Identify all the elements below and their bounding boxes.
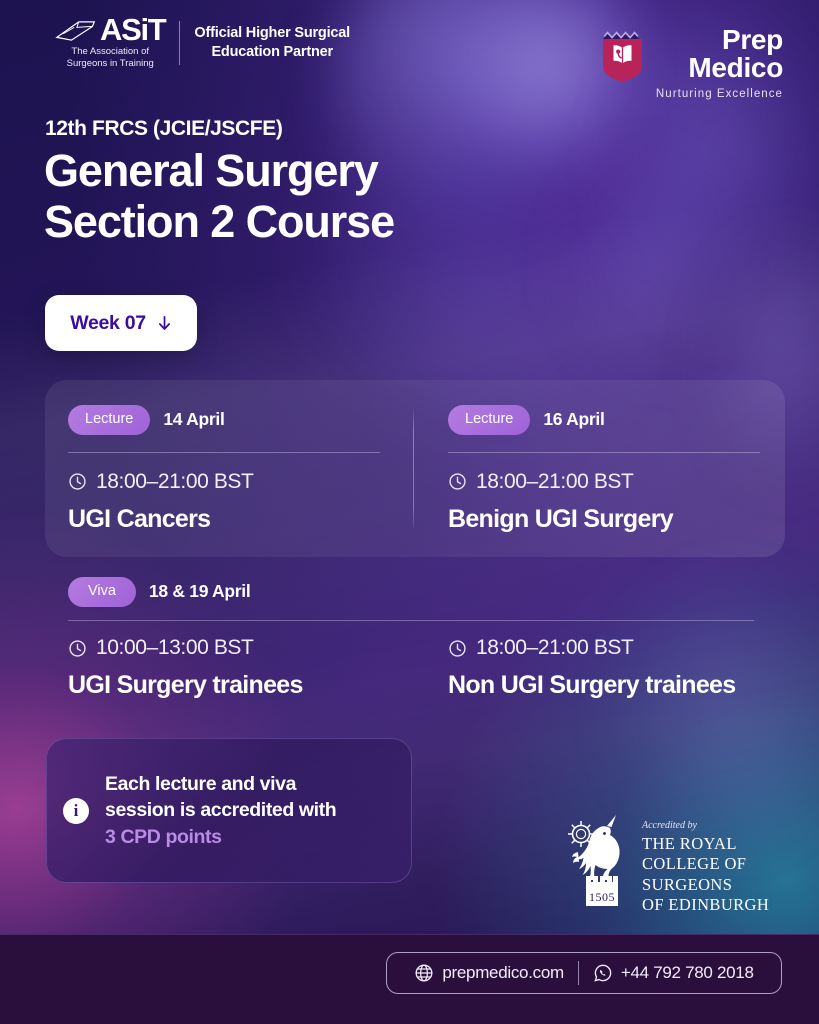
viva-type-badge: Viva (68, 577, 136, 607)
session-title: Non UGI Surgery trainees (448, 671, 778, 700)
week-selector-label: Week 07 (70, 312, 146, 335)
phone-text: +44 792 780 2018 (621, 963, 754, 983)
clock-icon (68, 472, 87, 491)
page-title-line2: Section 2 Course (44, 197, 394, 248)
asit-wordmark: ASiT (100, 16, 165, 43)
rcsed-line1: THE ROYAL (642, 834, 769, 854)
cpd-note-box: i Each lecture and viva session is accre… (46, 738, 412, 883)
cpd-note-text: Each lecture and viva session is accredi… (105, 771, 336, 850)
session-lecture-2[interactable]: Lecture 16 April 18:00–21:00 BST Benign … (448, 405, 760, 534)
session-divider (68, 452, 380, 453)
info-icon: i (63, 798, 89, 824)
footer-divider (179, 21, 180, 65)
poster-root: Prep Medico Nurturing Excellence 12th FR… (0, 0, 819, 1024)
book-shield-icon (601, 30, 644, 82)
session-title: UGI Cancers (68, 505, 380, 534)
website-link[interactable]: prepmedico.com (414, 963, 563, 983)
session-type-badge: Lecture (448, 405, 530, 435)
session-title: Benign UGI Surgery (448, 505, 760, 534)
partner-text: Official Higher Surgical Education Partn… (194, 24, 350, 63)
website-text: prepmedico.com (442, 963, 563, 983)
session-time: 18:00–21:00 BST (476, 636, 633, 660)
page-title: General Surgery Section 2 Course (44, 146, 394, 248)
session-type-badge: Lecture (68, 405, 150, 435)
accreditation-logo: 1505 Accredited by THE ROYAL COLLEGE OF … (566, 812, 769, 916)
clock-icon (448, 639, 467, 658)
week-selector-button[interactable]: Week 07 (45, 295, 197, 351)
brand-name-line2: Medico (688, 54, 783, 82)
session-time: 18:00–21:00 BST (96, 470, 253, 494)
asit-sub-line1: The Association of (67, 46, 154, 58)
accredited-by-label: Accredited by (642, 820, 769, 831)
phone-link[interactable]: +44 792 780 2018 (593, 963, 754, 983)
session-date: 16 April (543, 409, 604, 430)
session-lecture-1[interactable]: Lecture 14 April 18:00–21:00 BST UGI Can… (68, 405, 380, 534)
asit-sub-line2: Surgeons in Training (67, 58, 154, 70)
page-title-line1: General Surgery (44, 146, 394, 197)
unicorn-crest-icon: 1505 (566, 812, 632, 912)
clock-icon (68, 639, 87, 658)
rcsed-line4: OF EDINBURGH (642, 895, 769, 915)
brand-logo: Prep Medico Nurturing Excellence (601, 26, 783, 100)
course-kicker: 12th FRCS (JCIE/JSCFE) (45, 117, 282, 141)
session-viva-2[interactable]: 18:00–21:00 BST Non UGI Surgery trainees (448, 636, 778, 700)
globe-icon (414, 963, 434, 983)
lectures-vertical-divider (413, 410, 414, 528)
cpd-note-line1: Each lecture and viva (105, 771, 336, 797)
scalpel-icon (55, 19, 97, 43)
viva-divider (68, 620, 754, 621)
session-title: UGI Surgery trainees (68, 671, 398, 700)
brand-tagline: Nurturing Excellence (656, 88, 783, 100)
viva-header: Viva 18 & 19 April (68, 577, 250, 607)
rcsed-line2: COLLEGE OF (642, 854, 769, 874)
session-time: 10:00–13:00 BST (96, 636, 253, 660)
crest-year: 1505 (589, 890, 615, 904)
session-date: 14 April (163, 409, 224, 430)
cpd-note-line2: session is accredited with (105, 797, 336, 823)
contact-divider (578, 961, 579, 985)
cpd-points-highlight: 3 CPD points (105, 824, 336, 850)
session-divider (448, 452, 760, 453)
asit-partner-block: ASiT The Association of Surgeons in Trai… (55, 16, 350, 71)
partner-line2: Education Partner (194, 43, 350, 62)
clock-icon (448, 472, 467, 491)
viva-date: 18 & 19 April (149, 581, 250, 602)
session-time: 18:00–21:00 BST (476, 470, 633, 494)
brand-name-line1: Prep (722, 26, 783, 54)
arrow-down-icon (157, 315, 172, 332)
asit-logo: ASiT The Association of Surgeons in Trai… (55, 16, 165, 71)
partner-line1: Official Higher Surgical (194, 24, 350, 43)
contact-pill[interactable]: prepmedico.com +44 792 780 2018 (386, 952, 782, 994)
session-viva-1[interactable]: 10:00–13:00 BST UGI Surgery trainees (68, 636, 398, 700)
rcsed-line3: SURGEONS (642, 875, 769, 895)
whatsapp-icon (593, 963, 613, 983)
